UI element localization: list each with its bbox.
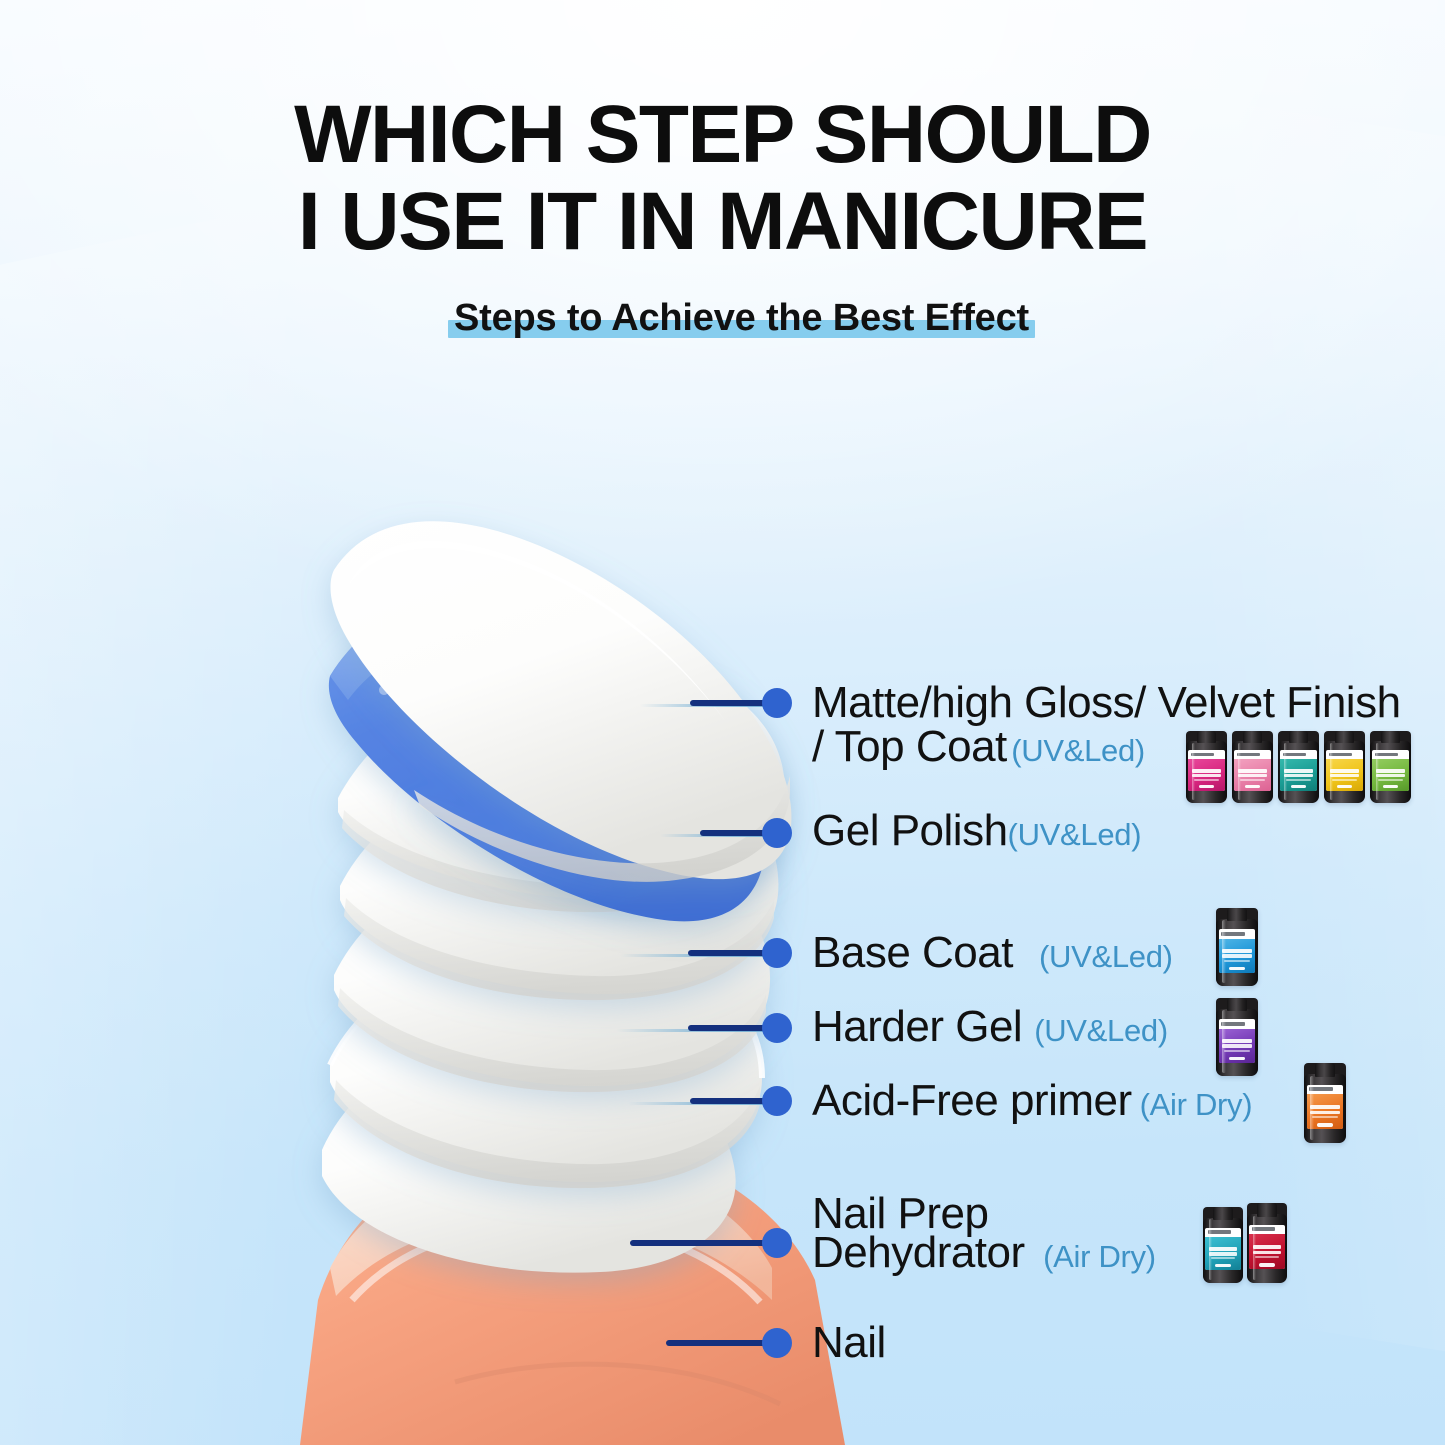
layer-harder-gel	[340, 755, 778, 1000]
bottle-label-text-line1	[1253, 1245, 1281, 1250]
title-line-1: WHICH STEP SHOULD	[0, 96, 1445, 175]
bottle-label-text-line3	[1332, 779, 1357, 781]
background-light-streak-left	[0, 162, 776, 1445]
leader-line-nail-prep-dehydrator	[630, 1240, 770, 1246]
bottle-primer	[1247, 1203, 1287, 1283]
step-label-harder-gel: Harder Gel(UV&Led)	[812, 1002, 1168, 1052]
bottle-label-chip	[1317, 1123, 1333, 1126]
bottle-label-text-line1	[1209, 1247, 1237, 1251]
bottle-label-text-line2	[1310, 1111, 1340, 1115]
bottle-label-text-line1	[1192, 769, 1221, 773]
title-line-2: I USE IT IN MANICURE	[0, 183, 1445, 262]
leader-dot-top-coat	[762, 688, 792, 718]
bottle-label-text-line2	[1238, 774, 1267, 777]
bottle-label-text-line3	[1224, 1050, 1249, 1052]
bottle-label-text-line3	[1194, 779, 1219, 781]
layer-nail	[322, 1037, 736, 1273]
step-cure-acid-free-primer: (Air Dry)	[1140, 1087, 1253, 1122]
bottle-label-text-line2	[1192, 774, 1221, 777]
bottle-matte-velvet-top-coat	[1278, 731, 1319, 803]
bottle-harder-gel	[1216, 998, 1258, 1076]
bottle-label-chip	[1337, 785, 1353, 788]
bottle-cap	[1227, 998, 1247, 1011]
bottle-gloss-highlight	[1330, 743, 1334, 801]
step-label-base-coat-text: Base Coat	[812, 928, 1013, 977]
step-label-nail-text: Nail	[812, 1318, 886, 1367]
leader-dot-base-coat	[762, 938, 792, 968]
bottle-label-text-line3	[1211, 1257, 1235, 1259]
bottle-cap	[1257, 1203, 1276, 1217]
bottle-gloss-highlight	[1238, 743, 1242, 801]
leader-dot-nail	[762, 1328, 792, 1358]
bottle-label-text-line2	[1222, 1044, 1252, 1048]
bottle-gloss-highlight	[1192, 743, 1196, 801]
bottle-label-text-line1	[1238, 769, 1267, 773]
step-cure-gel-polish: (UV&Led)	[1008, 817, 1142, 852]
bottle-cap	[1197, 731, 1217, 743]
layer-acid-free-primer	[334, 844, 770, 1092]
bottle-label-text-line2	[1209, 1252, 1237, 1256]
bottle-label-text-line3	[1312, 1116, 1337, 1118]
bottle-label-text-line3	[1255, 1256, 1279, 1258]
step-cure-harder-gel: (UV&Led)	[1034, 1013, 1168, 1048]
layer-nail-prep	[330, 939, 762, 1188]
bottle-gloss-highlight	[1222, 920, 1226, 982]
bottle-label-chip	[1383, 785, 1399, 788]
leader-dot-gel-polish	[762, 818, 792, 848]
header: WHICH STEP SHOULD I USE IT IN MANICURE S…	[0, 96, 1445, 340]
bottle-no-wipe-top-coat	[1324, 731, 1365, 803]
bottle-label-chip	[1199, 785, 1215, 788]
bottle-base-coat	[1216, 908, 1258, 986]
finger-illustration	[300, 1139, 845, 1445]
bottle-label-text-line2	[1253, 1251, 1281, 1255]
subtitle-wrapper: Steps to Achieve the Best Effect	[454, 297, 1029, 340]
leader-dot-acid-free-primer	[762, 1086, 792, 1116]
page-title: WHICH STEP SHOULD I USE IT IN MANICURE	[0, 96, 1445, 261]
poster-root: WHICH STEP SHOULD I USE IT IN MANICURE S…	[0, 0, 1445, 1445]
bottle-label-text-line3	[1378, 779, 1403, 781]
bottle-label-text-line2	[1376, 774, 1405, 777]
bottle-gloss-highlight	[1222, 1010, 1226, 1072]
subtitle: Steps to Achieve the Best Effect	[454, 297, 1029, 339]
step-label-harder-gel-text: Harder Gel	[812, 1002, 1022, 1051]
step-label-nail: Nail	[812, 1318, 886, 1368]
bottle-top-coat	[1186, 731, 1227, 803]
bottle-label-text-line3	[1224, 960, 1249, 962]
layer-gel-polish	[329, 589, 765, 921]
step-label-acid-free-primer: Acid-Free primer(Air Dry)	[812, 1076, 1252, 1126]
bottle-nail-prep-dehydrator	[1203, 1207, 1243, 1283]
leader-line-base-coat	[688, 950, 770, 956]
bottle-label-text-line1	[1376, 769, 1405, 773]
step-label-gel-polish: Gel Polish(UV&Led)	[812, 806, 1141, 856]
bottle-label-text-line2	[1284, 774, 1313, 777]
step-cure-top-coat: (UV&Led)	[1011, 733, 1145, 768]
step-label-gel-polish-text: Gel Polish	[812, 806, 1008, 855]
step-label-top-coat-line1: Matte/high Gloss/ Velvet Finish	[812, 678, 1401, 727]
bottle-label-text-line1	[1284, 769, 1313, 773]
bottle-label-chip	[1245, 785, 1261, 788]
leader-line-top-coat	[690, 700, 770, 706]
bottle-matte-top-coat	[1370, 731, 1411, 803]
leader-line-nail	[666, 1340, 770, 1346]
bottle-cap	[1315, 1063, 1335, 1077]
bottle-acid-free-primer	[1304, 1063, 1346, 1143]
bottle-label-text-line1	[1310, 1105, 1340, 1110]
bottle-label-text-line2	[1222, 954, 1252, 958]
bottle-label-chip	[1229, 967, 1245, 970]
bottle-label-text-line2	[1330, 774, 1359, 777]
step-label-nail-prep-line2: Dehydrator	[812, 1228, 1025, 1277]
step-label-top-coat-line2: / Top Coat	[812, 722, 1007, 771]
bottle-cap	[1227, 908, 1247, 921]
bottle-gloss-highlight	[1209, 1219, 1213, 1280]
bottle-high-gloss-top-coat	[1232, 731, 1273, 803]
step-cure-base-coat: (UV&Led)	[1039, 939, 1173, 974]
bottle-label-text-line1	[1222, 949, 1252, 953]
step-label-base-coat: Base Coat(UV&Led)	[812, 928, 1173, 978]
layer-base-coat	[338, 661, 785, 912]
leader-dot-nail-prep-dehydrator	[762, 1228, 792, 1258]
bottle-gloss-highlight	[1253, 1216, 1257, 1280]
bottle-cap	[1335, 731, 1355, 743]
bottle-label-chip	[1229, 1057, 1245, 1060]
leader-line-harder-gel	[688, 1025, 770, 1031]
bottle-cap	[1289, 731, 1309, 743]
bottle-label-chip	[1291, 785, 1307, 788]
bottle-gloss-highlight	[1376, 743, 1380, 801]
step-label-nail-prep-dehydrator: Nail Prep Dehydrator (Air Dry)	[812, 1192, 1156, 1276]
bottle-label-text-line3	[1240, 779, 1265, 781]
bottle-label-chip	[1215, 1264, 1231, 1267]
step-cure-nail-prep-dehydrator: (Air Dry)	[1043, 1239, 1156, 1274]
bottle-label-chip	[1259, 1263, 1275, 1266]
leader-line-gel-polish	[700, 830, 770, 836]
bottle-gloss-highlight	[1284, 743, 1288, 801]
bottle-label-text-line1	[1330, 769, 1359, 773]
step-label-acid-free-primer-text: Acid-Free primer	[812, 1076, 1132, 1125]
leader-line-acid-free-primer	[690, 1098, 770, 1104]
bottle-gloss-highlight	[1310, 1076, 1314, 1140]
bottle-label-text-line1	[1222, 1039, 1252, 1043]
bottle-cap	[1381, 731, 1401, 743]
bottle-label-text-line3	[1286, 779, 1311, 781]
bottle-cap	[1243, 731, 1263, 743]
leader-dot-harder-gel	[762, 1013, 792, 1043]
bottle-cap	[1213, 1207, 1232, 1220]
